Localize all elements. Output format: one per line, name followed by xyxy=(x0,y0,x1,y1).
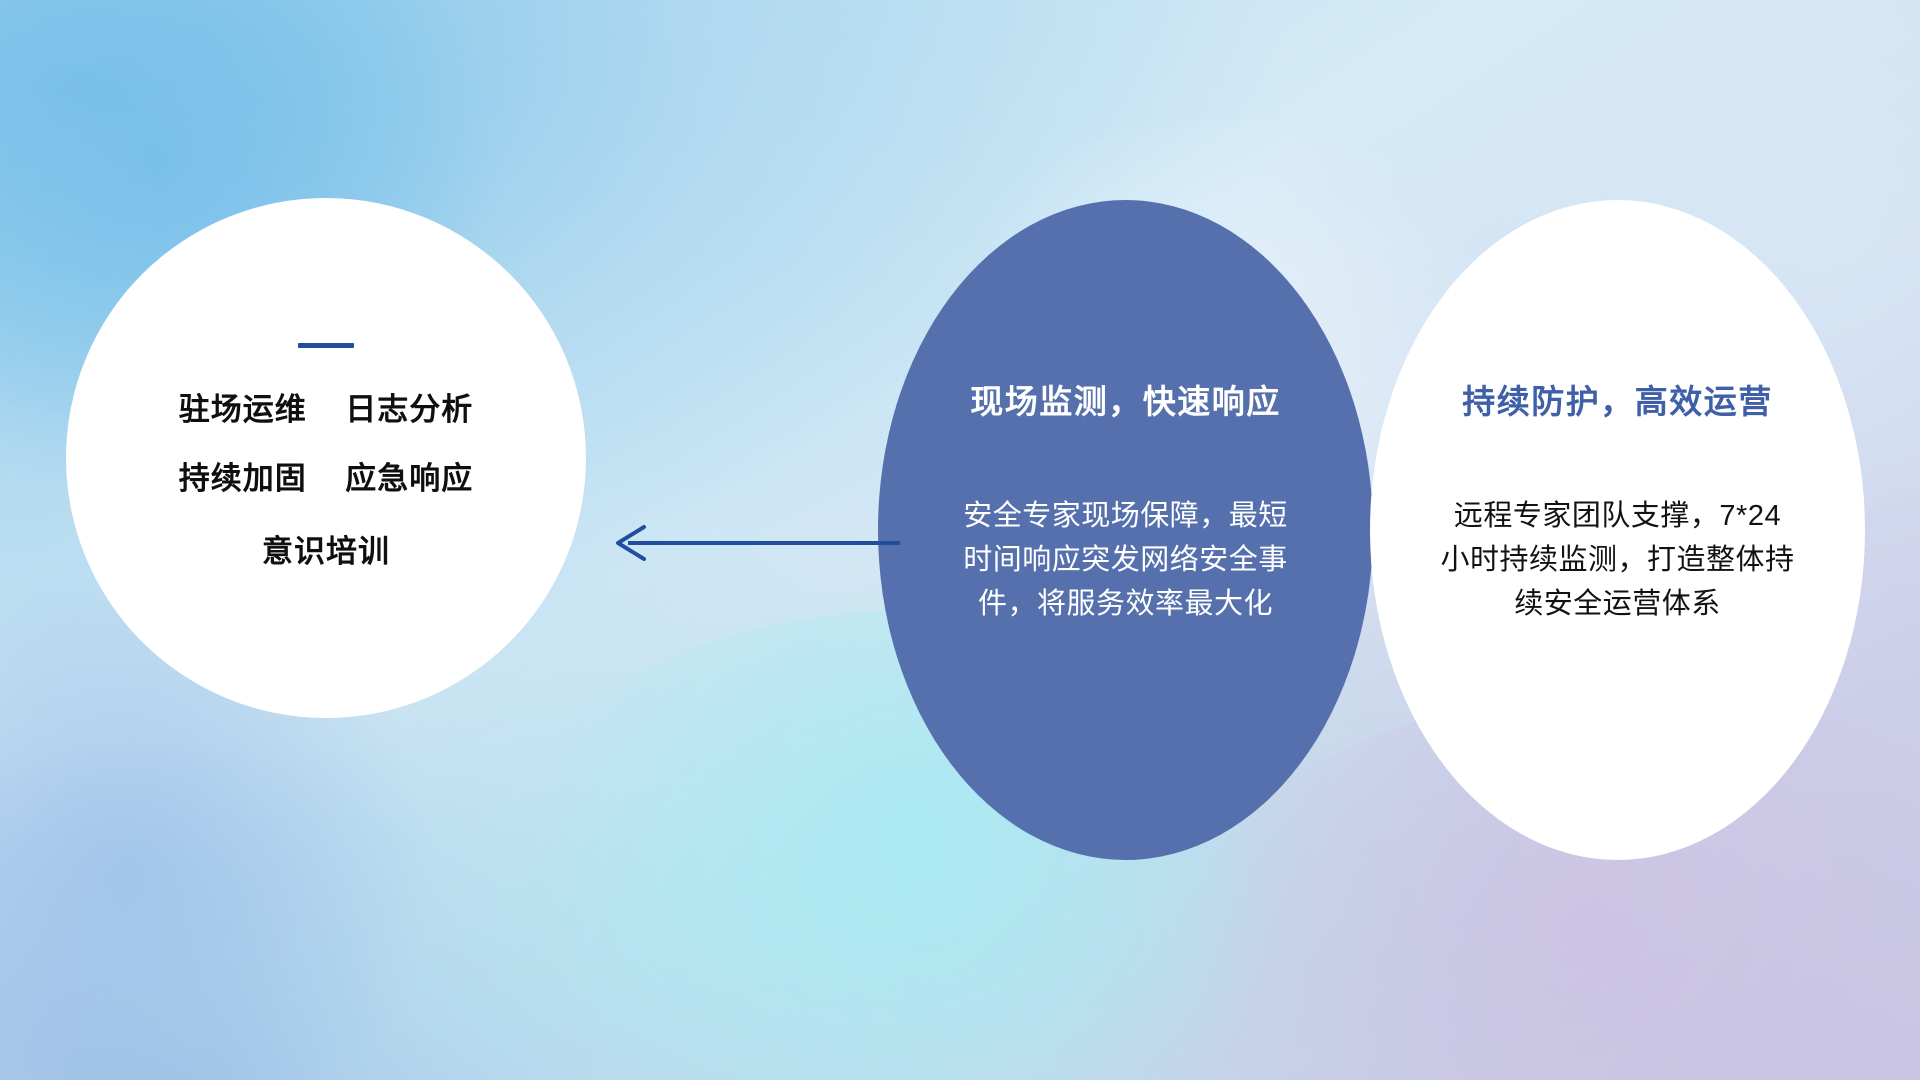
capability-line-1: 驻场运维 日志分析 xyxy=(116,394,536,425)
continuous-protection-circle[interactable]: 持续防护，高效运营 远程专家团队支撑，7*24小时持续监测，打造整体持续安全运营… xyxy=(1370,200,1865,860)
divider-dash-icon xyxy=(298,343,354,348)
onsite-monitoring-body: 安全专家现场保障，最短时间响应突发网络安全事件，将服务效率最大化 xyxy=(961,494,1291,626)
continuous-protection-body: 远程专家团队支撑，7*24小时持续监测，打造整体持续安全运营体系 xyxy=(1440,494,1796,626)
onsite-monitoring-circle[interactable]: 现场监测，快速响应 安全专家现场保障，最短时间响应突发网络安全事件，将服务效率最… xyxy=(878,200,1373,860)
flow-arrow-left-icon xyxy=(600,520,900,566)
left-circle-content: 驻场运维 日志分析 持续加固 应急响应 意识培训 xyxy=(116,343,536,567)
onsite-monitoring-title: 现场监测，快速响应 xyxy=(970,382,1281,422)
left-capability-circle[interactable]: 驻场运维 日志分析 持续加固 应急响应 意识培训 xyxy=(66,198,586,718)
slide-canvas: 驻场运维 日志分析 持续加固 应急响应 意识培训 现场监测，快速响应 安全专家现… xyxy=(0,0,1920,1080)
capability-line-2: 持续加固 应急响应 xyxy=(116,463,536,494)
capability-line-3: 意识培训 xyxy=(116,536,536,567)
continuous-protection-title: 持续防护，高效运营 xyxy=(1462,382,1773,422)
